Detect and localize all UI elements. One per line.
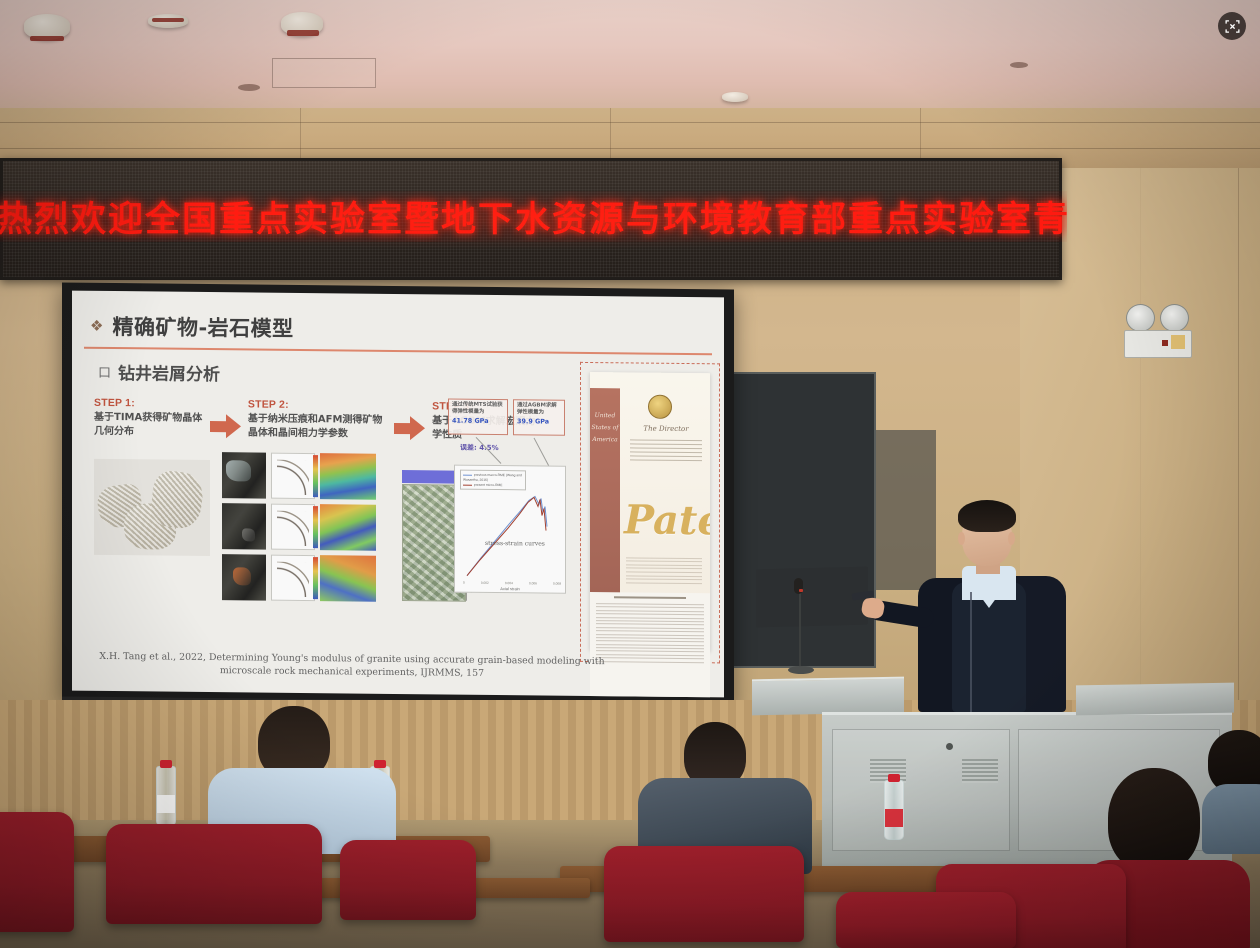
- chart-xlabel: Axial strain: [455, 586, 565, 592]
- micrograph-grid: [222, 452, 392, 602]
- xtick-0: 0: [463, 581, 465, 585]
- sem-image-1: [222, 452, 266, 498]
- water-bottle-1: [156, 766, 176, 826]
- callout-mts-text: 通过传统MTS试验获得弹性模量为: [452, 402, 504, 417]
- slide-citation: X.H. Tang et al., 2022, Determining Youn…: [90, 650, 614, 683]
- ceiling-vent: [272, 58, 376, 88]
- microphone-indicator: [799, 589, 803, 592]
- patent-seal-icon: [648, 395, 672, 419]
- attendee-far-right: [1208, 730, 1260, 850]
- patent-body-lines: [626, 554, 702, 586]
- load-displacement-plot-1: [271, 453, 315, 499]
- callout-agbm-text: 通过AGBM求解弹性模量为: [517, 402, 561, 416]
- presenter-hair: [958, 500, 1016, 532]
- led-banner: 热烈欢迎全国重点实验室暨地下水资源与环境教育部重点实验室青年发展论坛: [0, 158, 1062, 280]
- afm-heatmap-1: [320, 453, 376, 500]
- chair-front-left: [106, 824, 322, 924]
- ceiling-sensor-2: [1010, 62, 1028, 68]
- step-2-label: STEP 2:: [248, 398, 390, 411]
- arrow-right-icon: [210, 414, 244, 438]
- callout-mts-value: 41.78 GPa: [452, 417, 504, 426]
- xtick-1: 0.002: [481, 581, 489, 585]
- chair-front-left-2: [340, 840, 476, 920]
- step-1-label: STEP 1:: [94, 397, 206, 410]
- xtick-4: 0.008: [553, 582, 561, 586]
- callout-mts: 通过传统MTS试验获得弹性模量为 41.78 GPa: [448, 399, 508, 436]
- attendee-head-3: [1108, 768, 1200, 872]
- error-note: 误差: 4.5%: [460, 443, 499, 453]
- projection-screen: ❖ 精确矿物-岩石模型 口 钻井岩屑分析 STEP 1: 基于TIMA获得矿物晶…: [62, 282, 734, 707]
- chart-curves: [465, 486, 551, 579]
- chair-edge-left: [0, 812, 74, 932]
- sem-image-3: [222, 554, 266, 600]
- afm-heatmap-2: [320, 504, 376, 551]
- capture-icon: [1224, 18, 1241, 35]
- granite-sample-photo: [94, 459, 210, 556]
- presenter-ear-right: [1008, 532, 1015, 545]
- smoke-detector-led: [152, 18, 184, 22]
- callout-agbm-value: 39.9 GPa: [517, 417, 561, 425]
- patent-header: The Director: [628, 424, 704, 433]
- slide-subtitle-row: 口 钻井岩屑分析: [98, 359, 220, 385]
- step-2: STEP 2: 基于纳米压痕和AFM测得矿物晶体和晶间相力学参数: [248, 398, 390, 440]
- screenshot-capture-button[interactable]: [1218, 12, 1246, 40]
- arrow-right-icon-2: [394, 416, 428, 440]
- ceiling-light-glow-2: [287, 30, 319, 36]
- ceiling-light-glow: [30, 36, 64, 41]
- stress-strain-chart: previous macro-RME (Wang and Wasantha, 2…: [454, 465, 566, 594]
- slide-title-row: ❖ 精确矿物-岩石模型: [90, 309, 704, 349]
- slide-title: 精确矿物-岩石模型: [112, 311, 293, 343]
- step-1: STEP 1: 基于TIMA获得矿物晶体几何分布: [94, 397, 206, 439]
- square-bullet-icon: 口: [98, 362, 111, 381]
- presenter-ear-left: [958, 532, 965, 545]
- smoke-detector-3: [722, 92, 748, 102]
- microphone-base: [788, 666, 814, 674]
- presenter-zipper: [970, 592, 972, 712]
- xtick-2: 0.004: [505, 581, 513, 585]
- patent-band-text: United States of America: [590, 410, 620, 446]
- chart-caption: stress-strain curves: [485, 540, 545, 548]
- emergency-light-icon: [1124, 304, 1194, 362]
- load-displacement-plot-2: [271, 504, 315, 550]
- podium-desk: [752, 677, 904, 716]
- ceiling-sensor: [238, 84, 260, 91]
- chair-back-center: [836, 892, 1016, 948]
- sem-image-2: [222, 503, 266, 549]
- microphone-stem: [799, 588, 801, 668]
- presenter: [900, 500, 1080, 712]
- step-1-text: 基于TIMA获得矿物晶体几何分布: [94, 411, 206, 439]
- led-banner-text: 热烈欢迎全国重点实验室暨地下水资源与环境教育部重点实验室青年发展论坛: [0, 191, 1067, 242]
- patent-word: Patent: [624, 500, 706, 541]
- chair-front-center: [604, 846, 804, 942]
- slide-subtitle: 钻井岩屑分析: [118, 359, 220, 385]
- attendee-torso-4: [1202, 784, 1260, 854]
- water-bottle-3: [884, 780, 904, 840]
- xtick-3: 0.006: [529, 581, 537, 585]
- ceiling: [0, 0, 1260, 112]
- afm-heatmap-3: [320, 555, 376, 602]
- rostrum-top-surface: [1076, 683, 1234, 716]
- step-2-text: 基于纳米压痕和AFM测得矿物晶体和晶间相力学参数: [248, 412, 390, 440]
- stress-strain-svg: [465, 486, 551, 579]
- patent-header-lines: [630, 436, 702, 464]
- callout-agbm: 通过AGBM求解弹性模量为 39.9 GPa: [513, 399, 565, 436]
- load-displacement-plot-3: [271, 555, 315, 601]
- presentation-slide: ❖ 精确矿物-岩石模型 口 钻井岩屑分析 STEP 1: 基于TIMA获得矿物晶…: [72, 291, 724, 698]
- lecture-hall-photo: 热烈欢迎全国重点实验室暨地下水资源与环境教育部重点实验室青年发展论坛 ❖ 精确矿…: [0, 0, 1260, 948]
- diamond-bullet-icon: ❖: [90, 317, 103, 335]
